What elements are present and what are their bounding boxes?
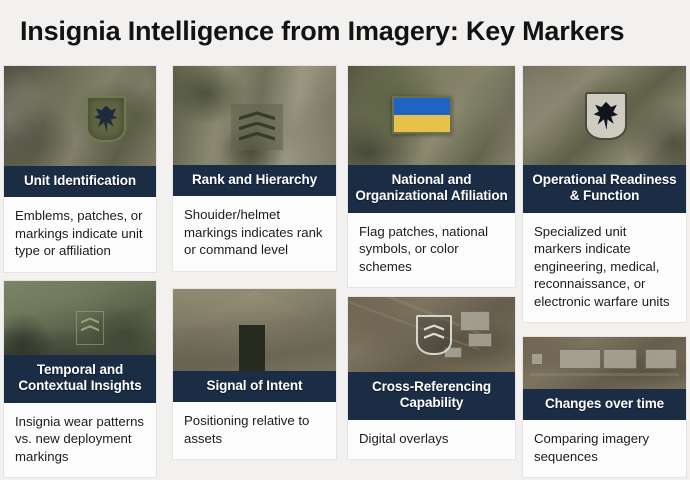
satellite-building — [603, 349, 637, 369]
card-rank-and-hierarchy[interactable]: Rank and Hierarchy Shouider/helmet marki… — [173, 66, 336, 271]
card-body: Comparing imagery sequences — [523, 420, 686, 477]
card-signal-of-intent[interactable]: Signal of Intent Positioning relative to… — [173, 289, 336, 459]
satellite-building — [559, 349, 601, 369]
ukraine-flag-patch — [392, 96, 452, 134]
card-label: Temporal and Contextual Insights — [4, 355, 156, 403]
rank-chevron-patch — [231, 104, 283, 150]
satellite-road — [529, 373, 679, 376]
card-label: National and Organizational Afiliation — [348, 165, 515, 213]
card-label: Unit Identification — [4, 166, 156, 197]
card-cross-referencing-capability[interactable]: Cross-Referencing Capability Digital ove… — [348, 297, 515, 459]
card-label: Rank and Hierarchy — [173, 165, 336, 196]
insignia-overlay-icon — [416, 315, 452, 355]
card-grid: Unit Identification Emblems, patches, or… — [0, 62, 690, 480]
card-body: Digital overlays — [348, 420, 515, 459]
card-label: Changes over time — [523, 389, 686, 420]
unit-patch-emblem — [86, 96, 126, 142]
card-label: Operational Readiness & Function — [523, 165, 686, 213]
soldier-shoulder-unit-patch-photo — [4, 66, 156, 166]
card-body: Positioning relative to assets — [173, 402, 336, 459]
soldier-shoulder-specialized-emblem-photo — [523, 66, 686, 165]
card-body: Emblems, patches, or markings indicate u… — [4, 197, 156, 271]
tent-door-opening — [239, 325, 265, 371]
soldier-shoulder-rank-chevrons-photo — [173, 66, 336, 165]
page-title: Insignia Intelligence from Imagery: Key … — [20, 16, 624, 47]
satellite-building — [531, 353, 543, 365]
card-national-and-organizational-afiliation[interactable]: National and Organizational Afiliation F… — [348, 66, 515, 287]
satellite-imagery-with-insignia-overlay — [348, 297, 515, 372]
armored-vehicle-markings-photo — [4, 281, 156, 355]
card-body: Shouider/helmet markings indicates rank … — [173, 196, 336, 270]
flag-blue-stripe — [394, 98, 450, 115]
card-body: Flag patches, national symbols, or color… — [348, 213, 515, 287]
card-label: Cross-Referencing Capability — [348, 372, 515, 420]
card-changes-over-time[interactable]: Changes over time Comparing imagery sequ… — [523, 337, 686, 477]
eagle-emblem-icon — [593, 102, 619, 130]
card-body: Insignia wear patterns vs. new deploymen… — [4, 403, 156, 477]
soldier-shoulder-ukraine-flag-patch-photo — [348, 66, 515, 165]
satellite-building — [645, 349, 677, 369]
vehicle-rank-marking-icon — [76, 311, 104, 345]
satellite-building — [468, 333, 492, 347]
card-body: Specialized unit markers indicate engine… — [523, 213, 686, 322]
card-temporal-and-contextual-insights[interactable]: Temporal and Contextual Insights Insigni… — [4, 281, 156, 477]
specialized-unit-emblem — [585, 92, 627, 140]
card-operational-readiness-and-function[interactable]: Operational Readiness & Function Special… — [523, 66, 686, 322]
satellite-building — [460, 311, 490, 331]
eagle-emblem-icon — [94, 106, 119, 133]
flag-yellow-stripe — [394, 115, 450, 132]
satellite-imagery-buildings-photo — [523, 337, 686, 389]
card-label: Signal of Intent — [173, 371, 336, 402]
card-unit-identification[interactable]: Unit Identification Emblems, patches, or… — [4, 66, 156, 272]
military-tent-photo — [173, 289, 336, 371]
